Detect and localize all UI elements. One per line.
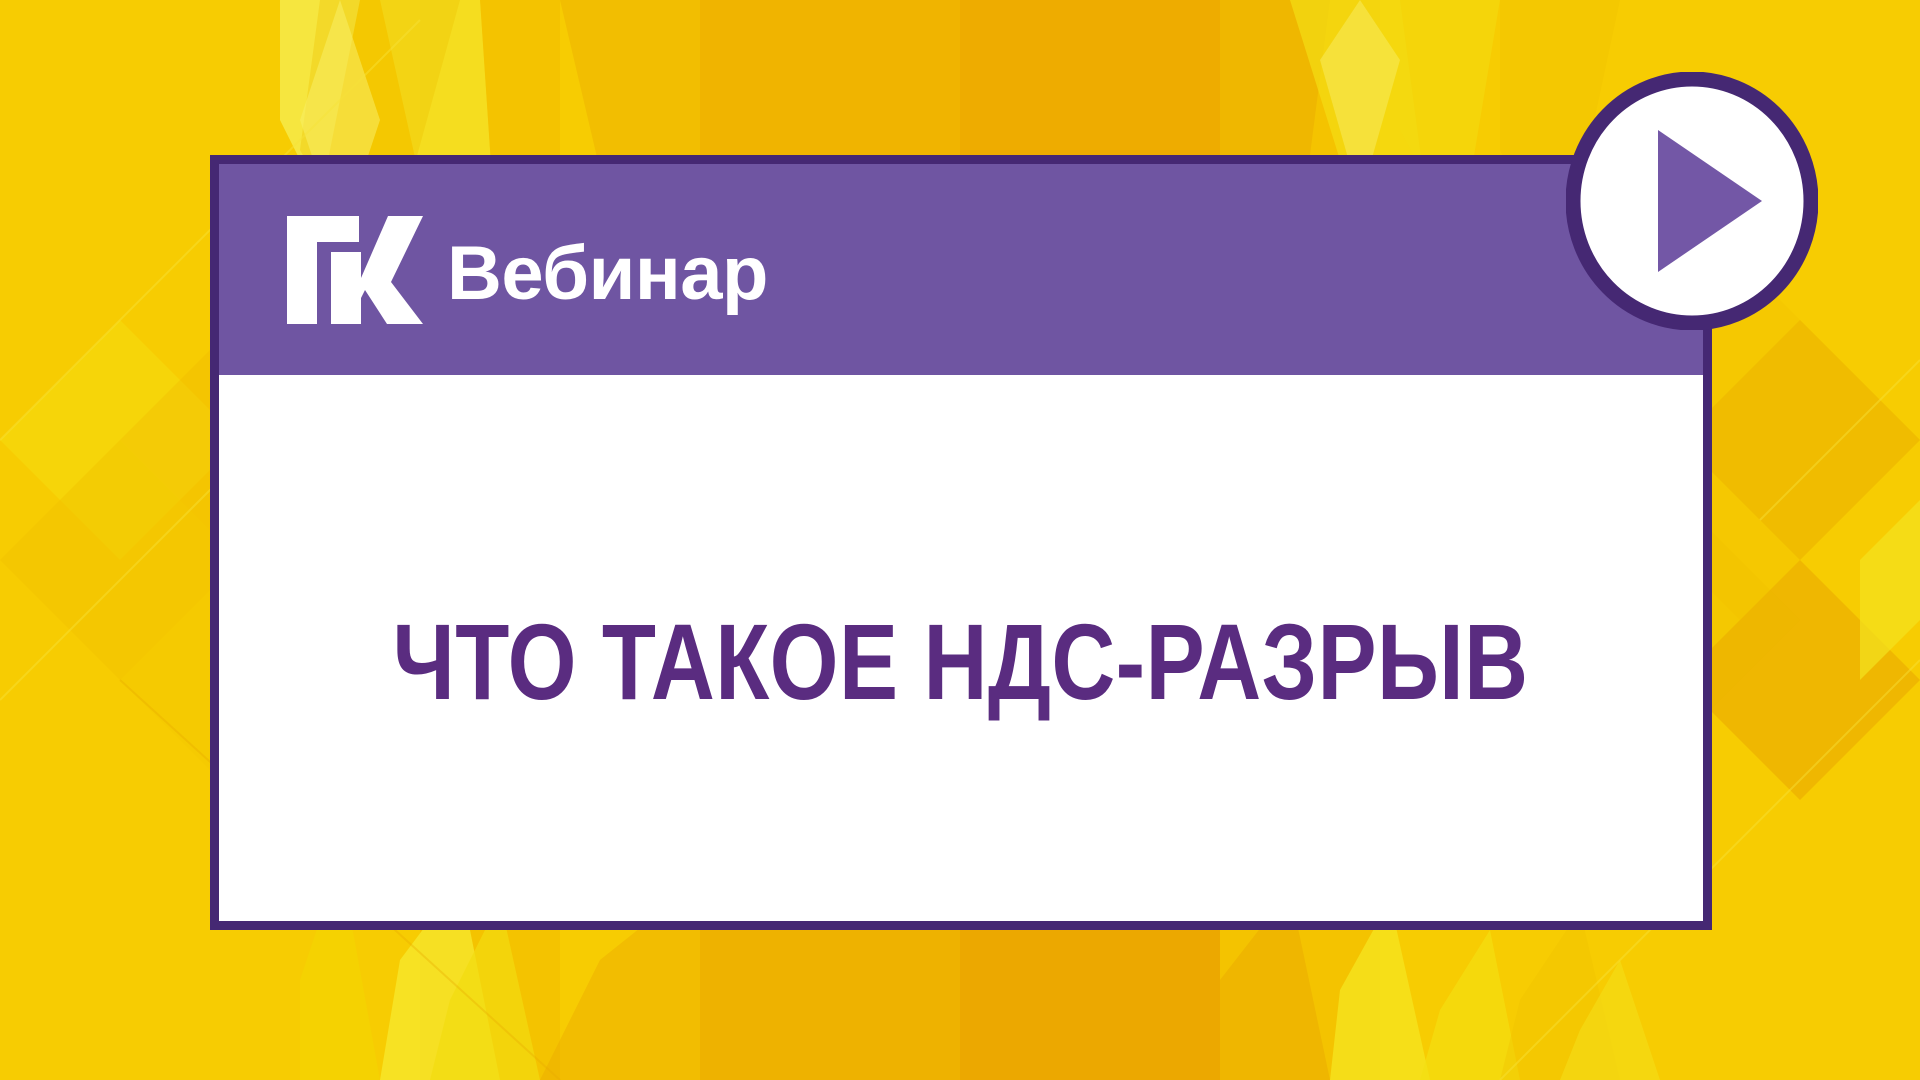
play-button[interactable] [1566, 72, 1818, 330]
card-header: Вебинар [219, 164, 1703, 375]
gk-monogram-logo [287, 216, 423, 324]
webinar-card: Вебинар ЧТО ТАКОЕ НДС-РАЗРЫВ [210, 155, 1712, 930]
card-body: ЧТО ТАКОЕ НДС-РАЗРЫВ [219, 375, 1703, 921]
slide-title: ЧТО ТАКОЕ НДС-РАЗРЫВ [360, 605, 1561, 718]
header-label: Вебинар [447, 236, 768, 312]
slide-canvas: Вебинар ЧТО ТАКОЕ НДС-РАЗРЫВ [0, 0, 1920, 1080]
